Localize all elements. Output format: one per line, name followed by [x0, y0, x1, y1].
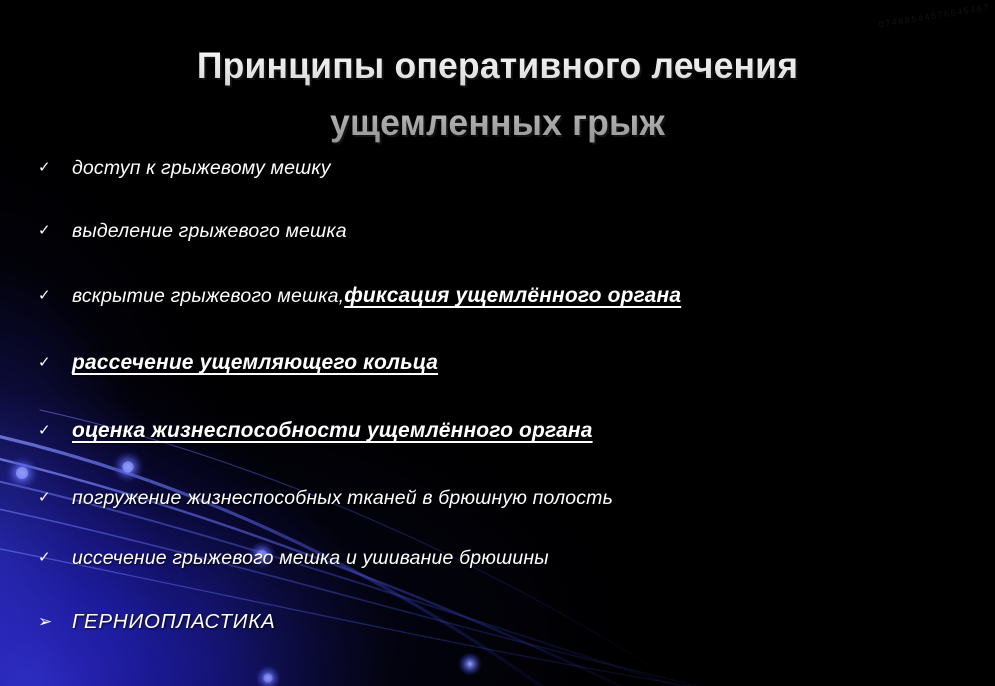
list-item: ✓ доступ к грыжевому мешку: [38, 158, 331, 179]
list-item: ✓ вскрытие грыжевого мешка, фиксация уще…: [38, 284, 681, 307]
check-bullet-icon: ✓: [38, 550, 72, 565]
arrow-bullet-icon: ➢: [38, 614, 72, 631]
check-bullet-icon: ✓: [38, 223, 72, 238]
check-bullet-icon: ✓: [38, 288, 72, 303]
list-item-text: вскрытие грыжевого мешка,: [72, 286, 344, 307]
list-item-text-emphasis: фиксация ущемлённого органа: [344, 284, 681, 307]
list-item-text: иссечение грыжевого мешка и ушивание брю…: [72, 548, 549, 569]
list-item-text: доступ к грыжевому мешку: [72, 158, 331, 179]
list-item-text-emphasis: рассечение ущемляющего кольца: [72, 351, 438, 374]
check-bullet-icon: ✓: [38, 160, 72, 175]
list-item: ✓ оценка жизнеспособности ущемлённого ор…: [38, 419, 593, 442]
check-bullet-icon: ✓: [38, 490, 72, 505]
list-item-text: ГЕРНИОПЛАСТИКА: [72, 611, 276, 634]
list-item: ✓ выделение грыжевого мешка: [38, 221, 347, 242]
check-bullet-icon: ✓: [38, 355, 72, 370]
list-item: ✓ рассечение ущемляющего кольца: [38, 351, 438, 374]
list-item: ✓ иссечение грыжевого мешка и ушивание б…: [38, 548, 549, 569]
list-item-text: выделение грыжевого мешка: [72, 221, 347, 242]
list-item-text-emphasis: оценка жизнеспособности ущемлённого орга…: [72, 419, 593, 442]
slide-title: Принципы оперативного лечения ущемленных…: [20, 37, 975, 151]
list-item: ✓ погружение жизнеспособных тканей в брю…: [38, 488, 613, 509]
list-item-text: погружение жизнеспособных тканей в брюшн…: [72, 488, 613, 509]
presentation-slide: 0746854457664546? Принципы оперативного …: [0, 0, 995, 686]
check-bullet-icon: ✓: [38, 423, 72, 438]
list-item: ➢ ГЕРНИОПЛАСТИКА: [38, 611, 276, 634]
